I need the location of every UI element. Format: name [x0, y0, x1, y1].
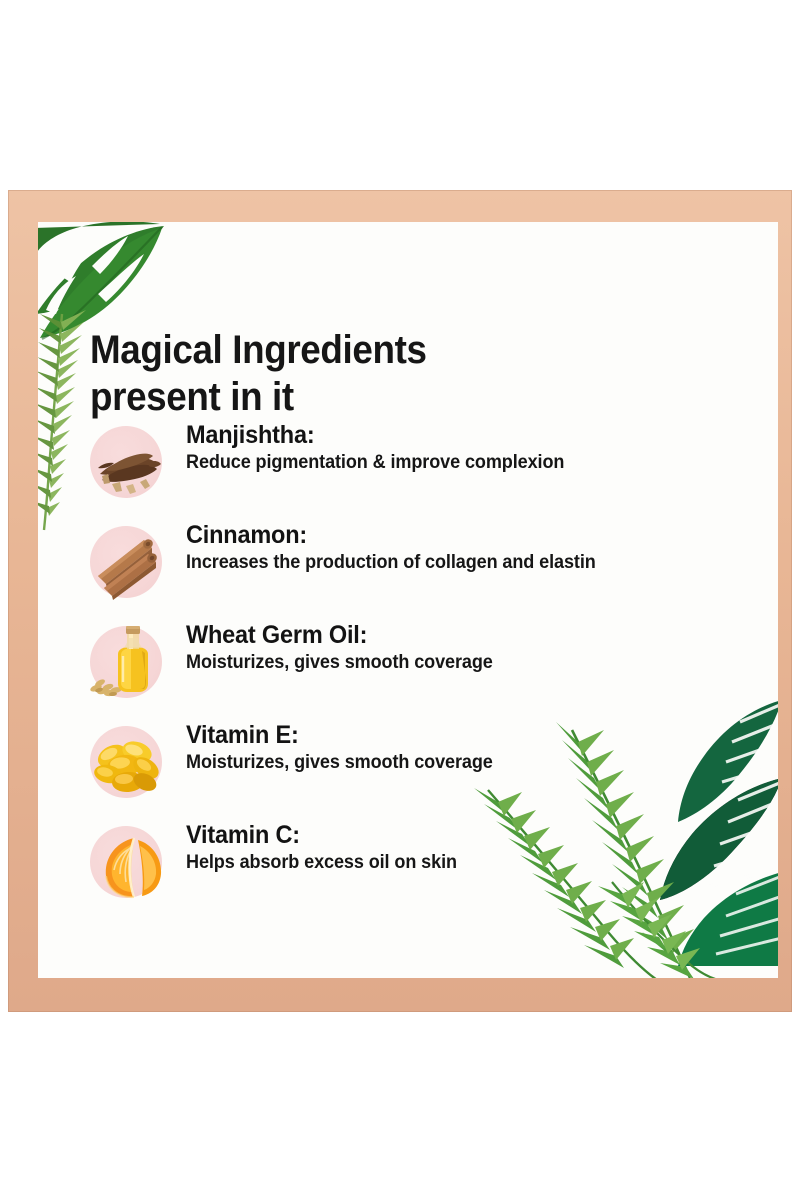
- ingredient-text: Wheat Germ Oil: Moisturizes, gives smoot…: [172, 618, 509, 675]
- ingredient-name: Vitamin C:: [186, 822, 454, 849]
- page-title-line-1: Magical Ingredients: [90, 328, 427, 372]
- ingredient-text: Vitamin C: Helps absorb excess oil on sk…: [172, 818, 471, 875]
- ingredient-name: Vitamin E:: [186, 722, 490, 749]
- manjishtha-roots-icon: [82, 418, 172, 508]
- list-item: Manjishtha: Reduce pigmentation & improv…: [82, 418, 742, 518]
- ingredient-name: Cinnamon:: [186, 522, 591, 549]
- list-item: Vitamin E: Moisturizes, gives smooth cov…: [82, 718, 742, 818]
- ingredient-thumbnail: [82, 618, 172, 710]
- list-item: Cinnamon: Increases the production of co…: [82, 518, 742, 618]
- cinnamon-sticks-icon: [82, 518, 172, 608]
- ingredient-name: Manjishtha:: [186, 422, 560, 449]
- ingredient-text: Vitamin E: Moisturizes, gives smooth cov…: [172, 718, 509, 775]
- ingredient-description: Helps absorb excess oil on skin: [186, 851, 457, 875]
- ingredient-list: Manjishtha: Reduce pigmentation & improv…: [82, 418, 742, 918]
- ingredient-thumbnail: [82, 818, 172, 910]
- ingredient-description: Moisturizes, gives smooth coverage: [186, 651, 493, 675]
- ingredient-thumbnail: [82, 518, 172, 610]
- ingredients-poster: Magical Ingredients present in it: [0, 0, 800, 1200]
- ingredient-text: Cinnamon: Increases the production of co…: [172, 518, 617, 575]
- list-item: Wheat Germ Oil: Moisturizes, gives smoot…: [82, 618, 742, 718]
- page-title-line-2: present in it: [90, 374, 568, 421]
- vitamin-e-capsules-icon: [82, 718, 172, 808]
- list-item: Vitamin C: Helps absorb excess oil on sk…: [82, 818, 742, 918]
- ingredient-thumbnail: [82, 718, 172, 810]
- orange-slices-icon: [82, 818, 172, 908]
- ingredient-description: Increases the production of collagen and…: [186, 551, 596, 575]
- ingredient-description: Moisturizes, gives smooth coverage: [186, 751, 493, 775]
- page-title: Magical Ingredients present in it: [90, 327, 568, 421]
- ingredient-name: Wheat Germ Oil:: [186, 622, 490, 649]
- ingredient-thumbnail: [82, 418, 172, 510]
- content-card: Magical Ingredients present in it: [38, 222, 778, 978]
- wheat-germ-oil-bottle-icon: [82, 618, 172, 708]
- ingredient-description: Reduce pigmentation & improve complexion: [186, 451, 564, 475]
- ingredient-text: Manjishtha: Reduce pigmentation & improv…: [172, 418, 584, 475]
